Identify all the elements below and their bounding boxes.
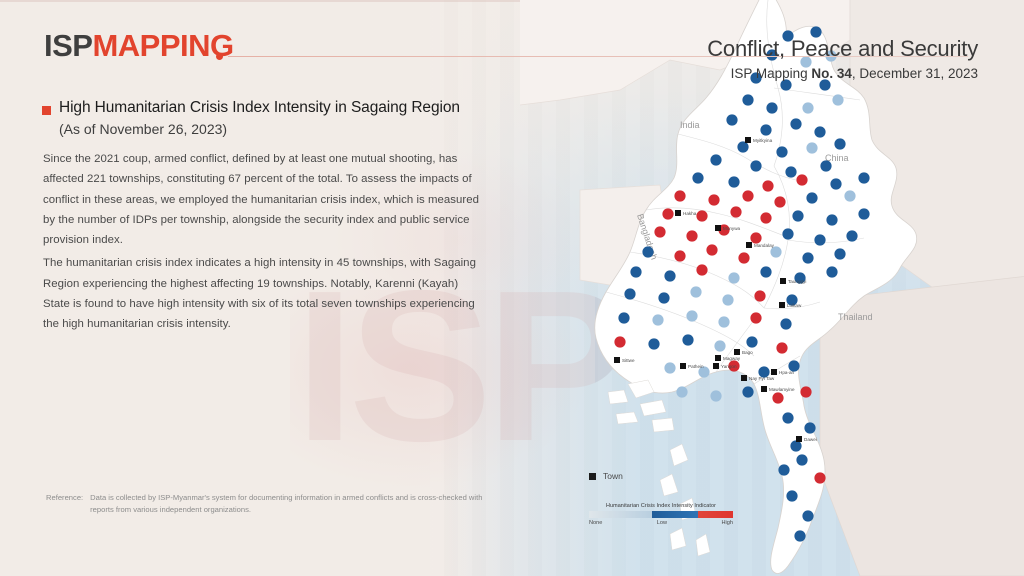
town-marker[interactable] [741,375,747,381]
township-dot[interactable] [750,232,761,243]
township-dot[interactable] [770,246,781,257]
coastal-islands [608,380,710,556]
township-dot[interactable] [624,288,635,299]
legend-segment-high [698,511,733,518]
township-dot[interactable] [728,272,739,283]
township-dot[interactable] [814,472,825,483]
township-dot[interactable] [760,212,771,223]
page-title: Conflict, Peace and Security [707,36,978,62]
town-marker[interactable] [779,302,785,308]
issue-prefix: ISP Mapping [731,66,812,81]
township-dot[interactable] [674,250,685,261]
town-label: Hakha [683,211,697,216]
township-dot[interactable] [796,454,807,465]
township-dot[interactable] [776,146,787,157]
township-dot[interactable] [750,312,761,323]
township-dot[interactable] [746,336,757,347]
town-label: Mawlamyine [769,387,795,392]
town-label: Sittwe [622,358,635,363]
town-label: Taunggyi [788,279,806,284]
township-dot[interactable] [802,102,813,113]
township-dot[interactable] [728,176,739,187]
town-label: Nay Pyi Taw [749,376,775,381]
township-dot[interactable] [738,252,749,263]
township-dot[interactable] [708,194,719,205]
township-dot[interactable] [674,190,685,201]
legend-caption: Humanitarian Crisis Index Intensity Indi… [589,503,733,509]
township-dot[interactable] [662,208,673,219]
township-dot[interactable] [780,79,791,90]
township-dot[interactable] [806,192,817,203]
township-dot[interactable] [614,336,625,347]
township-dot[interactable] [772,392,783,403]
township-dot[interactable] [780,318,791,329]
reference-label: Reference: [46,492,83,516]
township-dot[interactable] [776,342,787,353]
town-label: Hpa-an [779,370,795,375]
township-dot[interactable] [794,530,805,541]
township-dot[interactable] [760,266,771,277]
township-dot[interactable] [726,114,737,125]
poster-canvas: ISP ISP [0,0,1024,576]
township-dot[interactable] [754,290,765,301]
township-dot[interactable] [664,270,675,281]
township-dot[interactable] [785,166,796,177]
town-marker[interactable] [713,363,719,369]
legend-tick-high: High [721,520,733,526]
township-dot[interactable] [718,316,729,327]
town-label: Bago [742,350,753,355]
country-label: India [680,120,700,130]
township-dot[interactable] [858,172,869,183]
town-marker[interactable] [745,137,751,143]
town-label: Pathein [688,364,704,369]
issue-number: No. 34 [811,66,852,81]
township-dot[interactable] [846,230,857,241]
township-dot[interactable] [686,230,697,241]
town-marker[interactable] [680,363,686,369]
township-dot[interactable] [790,440,801,451]
township-dot[interactable] [730,206,741,217]
township-dot[interactable] [722,294,733,305]
isp-mapping-logo[interactable]: ISPMAPPING [44,30,234,61]
legend-segment-none [589,511,652,518]
township-dot[interactable] [766,102,777,113]
body-copy: Since the 2021 coup, armed conflict, def… [43,149,485,335]
town-marker[interactable] [761,386,767,392]
town-marker[interactable] [715,225,721,231]
township-dot[interactable] [690,286,701,297]
legend-tick-low: Low [657,520,667,526]
logo-isp: ISP [44,28,92,63]
logo-dot-icon [216,53,223,60]
town-label: Yangon [721,364,737,369]
township-dot[interactable] [800,386,811,397]
township-dot[interactable] [750,160,761,171]
township-dot[interactable] [742,386,753,397]
township-dot[interactable] [682,334,693,345]
map-svg: India China Bangladesh Thailand Myitkyin… [520,0,1024,576]
township-dot[interactable] [652,314,663,325]
township-dot[interactable] [858,208,869,219]
township-dot[interactable] [696,210,707,221]
intensity-legend: Humanitarian Crisis Index Intensity Indi… [589,503,733,526]
town-label: Mandalay [754,243,775,248]
township-dot[interactable] [802,510,813,521]
legend-town-entry: Town [589,471,623,481]
township-dot[interactable] [834,138,845,149]
section-bullet-icon [42,106,51,115]
township-dot[interactable] [742,190,753,201]
township-dot[interactable] [737,141,748,152]
country-label: Thailand [838,312,873,322]
township-dot[interactable] [834,248,845,259]
town-marker[interactable] [796,436,802,442]
reference-text: Data is collected by ISP-Myanmar's syste… [90,492,486,516]
township-dot[interactable] [782,412,793,423]
township-dot[interactable] [819,79,830,90]
township-dot[interactable] [706,244,717,255]
township-dot[interactable] [830,178,841,189]
town-marker[interactable] [734,349,740,355]
township-dot[interactable] [696,264,707,275]
township-dot[interactable] [782,228,793,239]
legend-segment-low [652,511,698,518]
reference-note: Reference: Data is collected by ISP-Myan… [46,492,486,516]
issue-line: ISP Mapping No. 34, December 31, 2023 [731,66,978,81]
township-dot[interactable] [814,234,825,245]
township-dot[interactable] [658,292,669,303]
township-dot[interactable] [686,310,697,321]
township-dot[interactable] [778,464,789,475]
town-label: Dawei [804,437,817,442]
township-dot[interactable] [654,226,665,237]
township-dot[interactable] [762,180,773,191]
issue-date: , December 31, 2023 [852,66,978,81]
legend-town-label: Town [603,471,623,481]
township-dot[interactable] [832,94,843,105]
township-dot[interactable] [710,390,721,401]
township-dot[interactable] [714,340,725,351]
township-dot[interactable] [760,124,771,135]
town-label: Monywa [723,226,741,231]
township-dot[interactable] [826,266,837,277]
town-marker[interactable] [715,355,721,361]
township-dot[interactable] [796,174,807,185]
town-label: Loikaw [787,303,802,308]
township-dot[interactable] [792,210,803,221]
township-dot[interactable] [664,362,675,373]
legend-tick-none: None [589,520,602,526]
township-dot[interactable] [786,490,797,501]
township-dot[interactable] [844,190,855,201]
section-title: High Humanitarian Crisis Index Intensity… [59,99,460,117]
town-label: Myitkyina [753,138,773,143]
body-paragraph-1: Since the 2021 coup, armed conflict, def… [43,149,485,250]
town-square-icon [589,473,596,480]
township-dot[interactable] [710,154,721,165]
legend-gradient-bar [589,511,733,518]
township-dot[interactable] [642,246,653,257]
township-dot[interactable] [630,266,641,277]
township-dot[interactable] [618,312,629,323]
township-dot[interactable] [774,196,785,207]
township-dot[interactable] [648,338,659,349]
town-marker[interactable] [771,369,777,375]
township-dot[interactable] [692,172,703,183]
township-dot[interactable] [790,118,801,129]
township-dot[interactable] [802,252,813,263]
legend-tick-row: None Low High [589,520,733,526]
logo-mapping: MAPPING [92,28,233,63]
township-dot[interactable] [826,214,837,225]
town-label: Magway [723,356,741,361]
town-marker[interactable] [746,242,752,248]
township-dot[interactable] [804,422,815,433]
township-dot[interactable] [676,386,687,397]
township-dot[interactable] [820,160,831,171]
town-marker[interactable] [614,357,620,363]
township-dot[interactable] [806,142,817,153]
myanmar-map[interactable]: India China Bangladesh Thailand Myitkyin… [520,0,1024,576]
town-marker[interactable] [780,278,786,284]
section-subtitle: (As of November 26, 2023) [59,121,227,137]
township-dot[interactable] [742,94,753,105]
township-dot[interactable] [814,126,825,137]
body-paragraph-2: The humanitarian crisis index indicates … [43,253,485,334]
town-marker[interactable] [675,210,681,216]
